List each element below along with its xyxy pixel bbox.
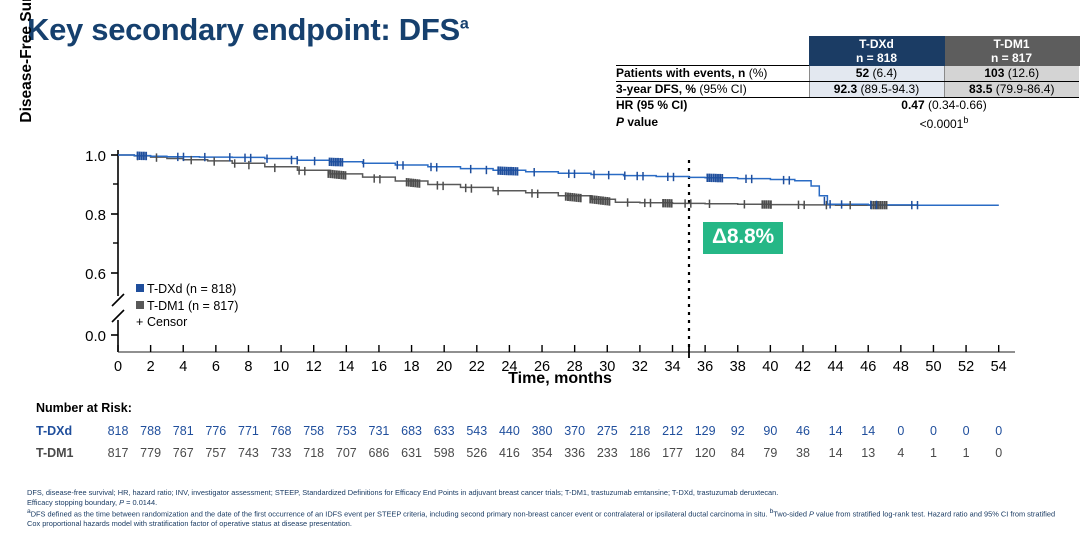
x-axis-ticks: [118, 345, 999, 352]
y-tick-label-0.6: 0.6: [85, 266, 106, 283]
y-tick-label-1.0: 1.0: [85, 148, 106, 165]
legend-label-tdm1: T-DM1 (n = 817): [147, 299, 238, 313]
number-at-risk-value: 718: [300, 446, 328, 460]
number-at-risk-value: 92: [724, 424, 752, 438]
number-at-risk-value: 731: [365, 424, 393, 438]
footnote-abbreviations: DFS, disease-free survival; HR, hazard r…: [27, 488, 1062, 498]
number-at-risk-value: 753: [332, 424, 360, 438]
number-at-risk-row-tdm1: T-DM1 8177797677577437337187076866315985…: [36, 446, 1076, 468]
number-at-risk-value: 90: [756, 424, 784, 438]
number-at-risk-value: 129: [691, 424, 719, 438]
chart-legend: T-DXd (n = 818) T-DM1 (n = 817) +Censor: [136, 281, 238, 331]
footnotes: DFS, disease-free survival; HR, hazard r…: [27, 488, 1062, 529]
number-at-risk-value: 526: [463, 446, 491, 460]
number-at-risk-value: 0: [887, 424, 915, 438]
number-at-risk-value: 440: [495, 424, 523, 438]
number-at-risk-value: 38: [789, 446, 817, 460]
number-at-risk-value: 13: [854, 446, 882, 460]
number-at-risk-value: 354: [528, 446, 556, 460]
footnote-efficacy-value: = 0.0144.: [124, 498, 157, 507]
number-at-risk-value: 817: [104, 446, 132, 460]
number-at-risk-value: 0: [985, 446, 1013, 460]
footnote-a-text: DFS defined as the time between randomiz…: [31, 510, 770, 519]
number-at-risk-value: 120: [691, 446, 719, 460]
legend-label-tdxd: T-DXd (n = 818): [147, 282, 236, 296]
number-at-risk-row-tdxd: T-DXd 8187887817767717687587537316836335…: [36, 424, 1076, 446]
number-at-risk-value: 212: [659, 424, 687, 438]
footnote-efficacy-boundary: Efficacy stopping boundary, P = 0.0144.: [27, 498, 1062, 508]
footnote-a-b: aDFS defined as the time between randomi…: [27, 507, 1062, 529]
number-at-risk-value: 186: [626, 446, 654, 460]
number-at-risk-value: 275: [593, 424, 621, 438]
number-at-risk-value: 771: [234, 424, 262, 438]
legend-swatch-tdm1-icon: [136, 301, 144, 309]
number-at-risk-value: 46: [789, 424, 817, 438]
number-at-risk-value: 4: [887, 446, 915, 460]
number-at-risk-value: 1: [919, 446, 947, 460]
legend-item-tdm1: T-DM1 (n = 817): [136, 298, 238, 315]
number-at-risk-value: 336: [561, 446, 589, 460]
number-at-risk-value: 1: [952, 446, 980, 460]
number-at-risk-value: 14: [854, 424, 882, 438]
number-at-risk-value: 743: [234, 446, 262, 460]
censor-marks-tdm1: [138, 152, 887, 209]
number-at-risk-value: 758: [300, 424, 328, 438]
number-at-risk-value: 757: [202, 446, 230, 460]
number-at-risk-value: 0: [985, 424, 1013, 438]
y-tick-label-0.8: 0.8: [85, 207, 106, 224]
legend-label-censor: Censor: [147, 315, 187, 329]
number-at-risk-value: 543: [463, 424, 491, 438]
number-at-risk-value: 781: [169, 424, 197, 438]
number-at-risk-value: 788: [137, 424, 165, 438]
number-at-risk-value: 633: [430, 424, 458, 438]
number-at-risk-value: 218: [626, 424, 654, 438]
number-at-risk-value: 416: [495, 446, 523, 460]
number-at-risk-value: 598: [430, 446, 458, 460]
number-at-risk-value: 818: [104, 424, 132, 438]
survival-curve-tdxd: [118, 155, 999, 205]
legend-item-censor: +Censor: [136, 314, 238, 331]
number-at-risk-label-tdxd: T-DXd: [36, 424, 72, 438]
y-tick-label-0.0: 0.0: [85, 328, 106, 345]
number-at-risk-value: 733: [267, 446, 295, 460]
number-at-risk-value: 779: [137, 446, 165, 460]
number-at-risk-value: 79: [756, 446, 784, 460]
number-at-risk-value: 631: [398, 446, 426, 460]
number-at-risk-label-tdm1: T-DM1: [36, 446, 74, 460]
survival-curve-tdm1: [118, 155, 999, 205]
number-at-risk-value: 380: [528, 424, 556, 438]
y-axis-ticks: 1.0 0.8 0.6 0.0: [85, 148, 106, 345]
number-at-risk-value: 767: [169, 446, 197, 460]
number-at-risk-value: 14: [822, 446, 850, 460]
number-at-risk-value: 233: [593, 446, 621, 460]
legend-swatch-tdxd-icon: [136, 284, 144, 292]
number-at-risk-value: 776: [202, 424, 230, 438]
footnote-b-text: Two-sided: [773, 510, 809, 519]
number-at-risk-value: 686: [365, 446, 393, 460]
number-at-risk-value: 0: [919, 424, 947, 438]
number-at-risk-value: 707: [332, 446, 360, 460]
legend-item-tdxd: T-DXd (n = 818): [136, 281, 238, 298]
kaplan-meier-plot: 1.0 0.8 0.6 0.0 024681012141618202224262…: [0, 0, 1080, 400]
footnote-efficacy-text: Efficacy stopping boundary,: [27, 498, 119, 507]
number-at-risk-value: 683: [398, 424, 426, 438]
x-axis-label: Time, months: [0, 370, 1080, 388]
number-at-risk-value: 177: [659, 446, 687, 460]
number-at-risk-value: 370: [561, 424, 589, 438]
delta-annotation-badge: Δ8.8%: [703, 222, 783, 254]
legend-plus-icon: +: [136, 314, 147, 331]
number-at-risk-value: 768: [267, 424, 295, 438]
number-at-risk-title: Number at Risk:: [36, 401, 1076, 415]
number-at-risk-value: 84: [724, 446, 752, 460]
number-at-risk-value: 14: [822, 424, 850, 438]
number-at-risk-value: 0: [952, 424, 980, 438]
number-at-risk-table: Number at Risk: T-DXd 818788781776771768…: [36, 401, 1076, 468]
